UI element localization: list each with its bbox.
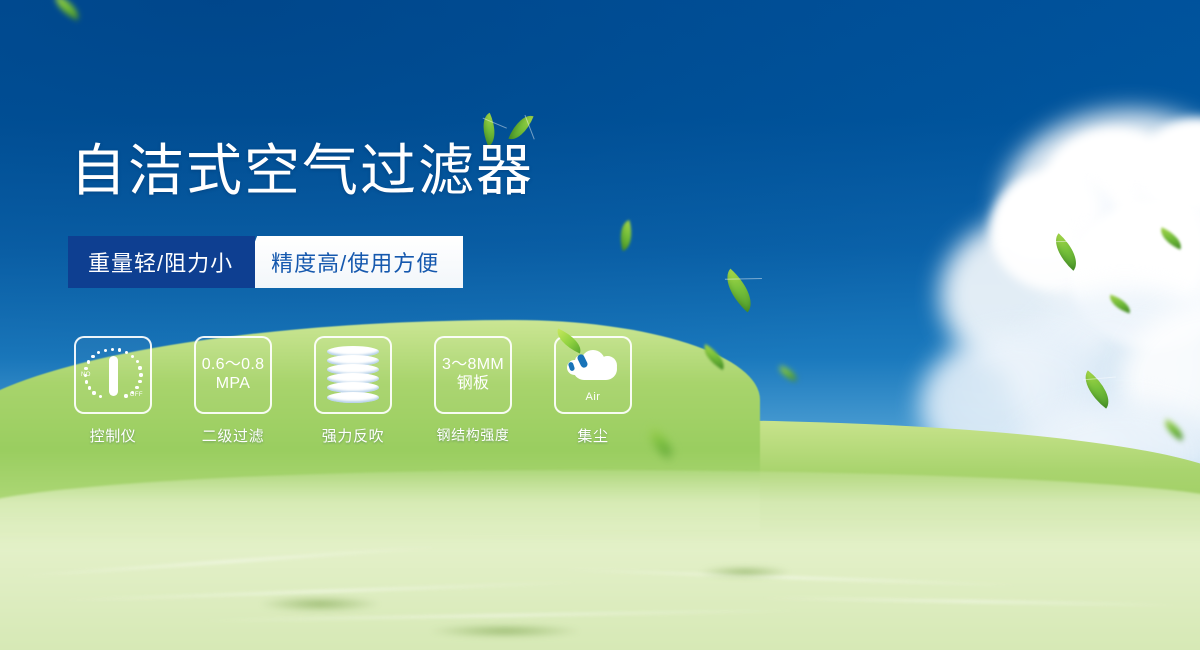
feature-icon-box: NO OFF: [74, 336, 152, 414]
gauge-dial-icon: NO OFF: [82, 345, 144, 405]
feature-item-dust-collection[interactable]: Air 集尘: [554, 336, 632, 446]
feature-item-two-stage-filter[interactable]: 0.6～0.8 MPA 二级过滤: [194, 336, 272, 446]
feature-icon-box: Air: [554, 336, 632, 414]
filter-cartridge-stack-icon: [327, 346, 379, 404]
feature-item-controller[interactable]: NO OFF 控制仪: [74, 336, 152, 446]
banner-stage: 自洁式空气过滤器 重量轻/阻力小 精度高/使用方便: [0, 0, 1200, 650]
gauge-off-label: OFF: [130, 392, 143, 398]
subtitle-badge-left: 重量轻/阻力小: [68, 236, 255, 288]
feature-label: 二级过滤: [202, 425, 264, 446]
feature-list: NO OFF 控制仪 0.6～0.8 MPA 二级过滤: [74, 336, 632, 446]
air-label: Air: [586, 391, 601, 403]
feature-label: 集尘: [577, 425, 608, 446]
cloud-air-icon: [565, 348, 621, 390]
page-title: 自洁式空气过滤器: [70, 143, 534, 199]
gauge-no-label: NO: [81, 372, 91, 378]
feature-icon-box: 3～8MM 钢板: [434, 336, 512, 414]
subtitle-badges: 重量轻/阻力小 精度高/使用方便: [68, 236, 463, 288]
steel-value-line1: 3～8MM: [442, 356, 504, 375]
feature-item-strong-backblow[interactable]: 强力反吹: [314, 336, 392, 446]
feature-label: 强力反吹: [322, 425, 384, 446]
subtitle-badge-right: 精度高/使用方便: [237, 236, 463, 288]
feature-label: 钢结构强度: [437, 425, 510, 445]
feature-item-steel-strength[interactable]: 3～8MM 钢板 钢结构强度: [434, 336, 512, 446]
feature-icon-box: 0.6～0.8 MPA: [194, 336, 272, 414]
feature-label: 控制仪: [90, 425, 137, 446]
steel-value-line2: 钢板: [457, 375, 490, 394]
pressure-value-line2: MPA: [216, 375, 250, 394]
pressure-value-line1: 0.6～0.8: [202, 356, 265, 375]
feature-icon-box: [314, 336, 392, 414]
banner-content: 自洁式空气过滤器 重量轻/阻力小 精度高/使用方便: [0, 0, 1200, 650]
